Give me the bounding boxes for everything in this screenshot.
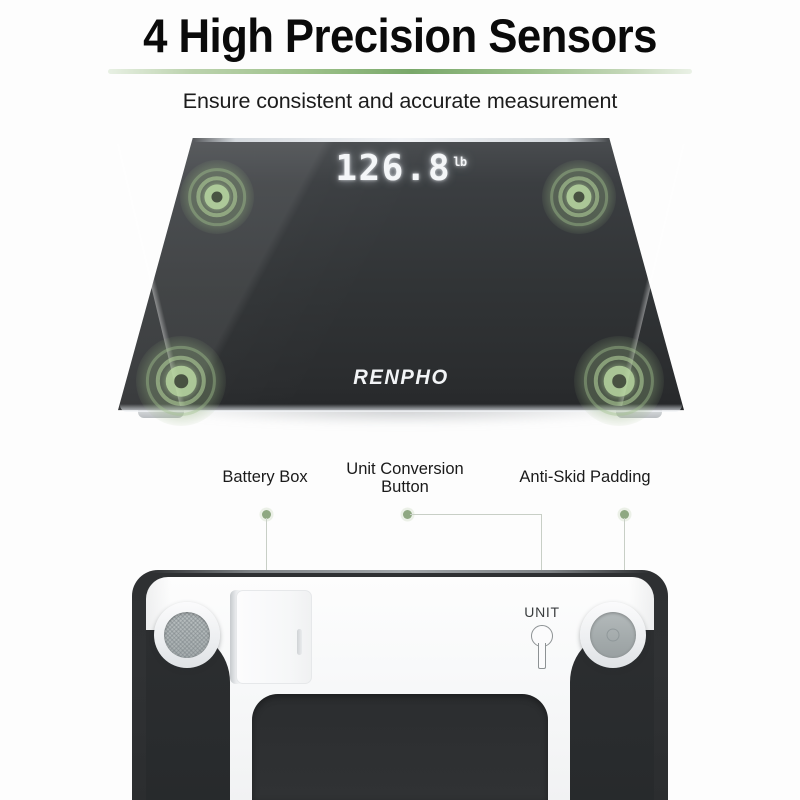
scale-top-view: 126.8lb [118,138,684,438]
scale-bottom-view [132,568,668,800]
page-subheadline: Ensure consistent and accurate measureme… [0,89,800,114]
sensor-indicator-top-right [542,160,616,234]
product-feature-page: 4 High Precision Sensors Ensure consiste… [0,0,800,800]
weight-unit: lb [453,155,466,169]
unit-button-label: UNIT [508,604,576,620]
scale-underside-edge-highlight [150,570,650,573]
battery-box-slot [297,629,302,655]
weight-value: 126.8 [335,148,451,189]
sensor-indicator-top-left [180,160,254,234]
unit-button-stem [538,643,546,669]
brand-logo: RENPHO [129,366,672,390]
anti-skid-pad-surface [164,612,210,658]
anti-skid-pad-right [580,602,646,668]
unit-conversion-button[interactable] [528,625,556,669]
callout-label-anti-skid-padding: Anti-Skid Padding [470,468,700,486]
headline-divider [108,69,692,74]
glass-rim-top [194,138,608,142]
inner-recess-panel [252,694,548,800]
callout-leader-unit-horizontal [410,514,542,515]
battery-box-cover[interactable] [236,590,312,684]
page-headline: 4 High Precision Sensors [28,8,772,63]
anti-skid-pad-left [154,602,220,668]
anti-skid-pad-surface [590,612,636,658]
